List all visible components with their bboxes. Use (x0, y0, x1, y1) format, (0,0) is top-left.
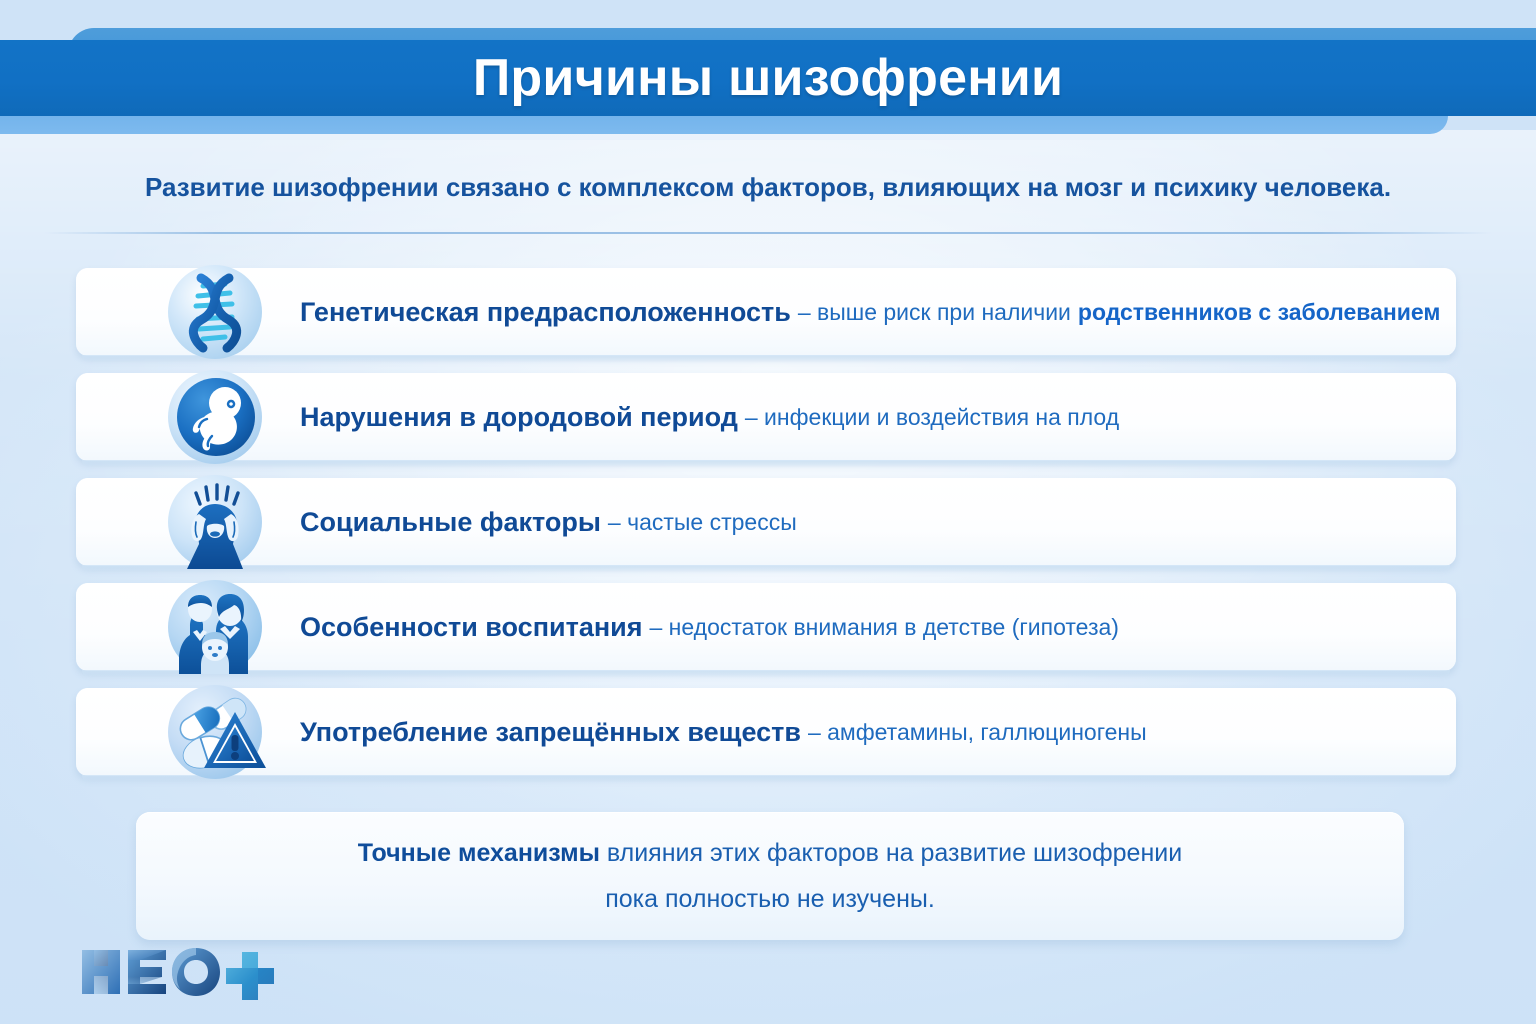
row-title: Особенности воспитания (300, 612, 643, 643)
row-text: Социальные факторы – частые стрессы (300, 478, 797, 566)
fetus-icon (163, 365, 267, 469)
list-item[interactable]: Употребление запрещённых веществ – амфет… (0, 688, 1536, 784)
dna-helix-icon (163, 260, 267, 364)
pills-warning-icon (163, 680, 267, 784)
section-divider (44, 232, 1492, 234)
page-title: Причины шизофрении (0, 40, 1536, 116)
callout-strong-text: Точные механизмы (358, 839, 600, 867)
list-item[interactable]: Нарушения в дородовой период – инфекции … (0, 373, 1536, 469)
callout-line-2: пока полностью не изучены. (605, 876, 935, 922)
callout-line-1: Точные механизмы влияния этих факторов н… (358, 830, 1182, 876)
subtitle-text: Развитие шизофрении связано с комплексом… (0, 172, 1536, 203)
row-description: – инфекции и воздействия на плод (738, 404, 1119, 431)
family-icon (163, 575, 267, 679)
factors-list: Генетическая предрасположенность – выше … (0, 268, 1536, 793)
row-text: Особенности воспитания – недостаток вним… (300, 583, 1119, 671)
row-title: Нарушения в дородовой период (300, 402, 738, 433)
row-description: – частые стрессы (601, 509, 797, 536)
row-emphasis: родственников с заболеванием (1071, 299, 1441, 326)
row-title: Генетическая предрасположенность (300, 297, 791, 328)
row-description: – амфетамины, галлюциногены (801, 719, 1147, 746)
infographic-page: Причины шизофрении Развитие шизофрении с… (0, 0, 1536, 1024)
neo-plus-logo[interactable] (78, 944, 278, 1000)
row-description: – недостаток внимания в детстве (гипотез… (643, 614, 1119, 641)
header-underline-strip (0, 116, 1448, 134)
list-item[interactable]: Генетическая предрасположенность – выше … (0, 268, 1536, 364)
header: Причины шизофрении (0, 0, 1536, 152)
row-description: – выше риск при наличии (791, 299, 1071, 326)
callout-rest-text: влияния этих факторов на развитие шизофр… (607, 839, 1182, 867)
row-text: Нарушения в дородовой период – инфекции … (300, 373, 1119, 461)
stressed-person-icon (163, 470, 267, 574)
row-title: Употребление запрещённых веществ (300, 717, 801, 748)
row-title: Социальные факторы (300, 507, 601, 538)
list-item[interactable]: Социальные факторы – частые стрессы (0, 478, 1536, 574)
list-item[interactable]: Особенности воспитания – недостаток вним… (0, 583, 1536, 679)
row-text: Генетическая предрасположенность – выше … (300, 268, 1440, 356)
row-text: Употребление запрещённых веществ – амфет… (300, 688, 1147, 776)
conclusion-callout: Точные механизмы влияния этих факторов н… (136, 812, 1404, 940)
